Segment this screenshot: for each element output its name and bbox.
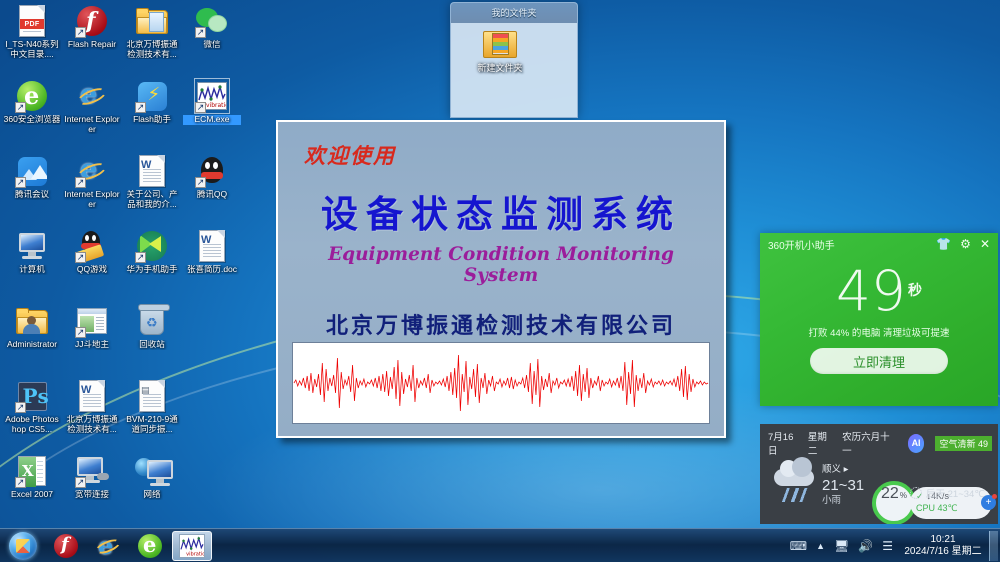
app-title-cn: 设备状态监测系统 xyxy=(290,184,712,238)
taskbar-item-internet-explorer[interactable]: e xyxy=(88,531,128,561)
network-icon[interactable]: 🖥 xyxy=(834,539,849,553)
start-button[interactable] xyxy=(2,531,44,561)
weather-monitor-widget[interactable]: 7月16日 星期二 农历六月十一 AI 空气清新 49 顺义 ▸ 21~31 小… xyxy=(760,424,998,524)
welcome-text: 欢迎使用 xyxy=(304,140,712,170)
excel-icon: X xyxy=(15,454,49,488)
ecm-app-icon: vibration xyxy=(195,79,229,113)
desktop-icon-about-company-doc[interactable]: W 关于公司、产品和我的介... xyxy=(122,152,182,227)
weather-city-label: 顺义 xyxy=(822,464,841,475)
weather-date: 7月16日 xyxy=(768,429,799,457)
taskbar[interactable]: f e e vibration xyxy=(0,528,1000,562)
word-document-icon: W xyxy=(75,379,109,413)
user-folder-icon xyxy=(15,304,49,338)
taskbar-item-ecm-exe[interactable]: vibration xyxy=(172,531,212,561)
internet-explorer-icon: e xyxy=(75,79,109,113)
weather-info: 顺义 ▸ 21~31 小雨 xyxy=(822,459,864,508)
desktop-icon-photoshop[interactable]: Ps Adobe Photoshop CS5... xyxy=(2,377,62,452)
text-document-icon: ▤ xyxy=(135,379,169,413)
rain-cloud-icon xyxy=(768,459,822,507)
assistant-title: 360开机小助手 xyxy=(768,237,936,252)
desktop-icon-grid[interactable]: PDF I_TS-N40系列中文目录.... f Flash Repair 北京… xyxy=(2,2,242,527)
weather-temp-range: 21~31 xyxy=(822,477,864,494)
desktop-icon-jj-landlord[interactable]: JJ斗地主 xyxy=(62,302,122,377)
desktop-icon-empty-slot-2 xyxy=(182,377,242,452)
app-title-en: Equipment Condition Monitoring System xyxy=(290,244,712,286)
flash-assistant-icon: ⚡ xyxy=(135,79,169,113)
360-boot-assistant-widget[interactable]: 360开机小助手 👕 ⚙ ✕ 49秒 打败 44% 的电脑 清理垃圾可提速 立即… xyxy=(760,233,998,406)
desktop-icon-label: 回收站 xyxy=(123,340,181,350)
desktop-icon-label: 北京万博振通检测技术有... xyxy=(63,415,121,434)
assistant-header: 360开机小助手 👕 ⚙ ✕ xyxy=(760,233,998,255)
cpu-temp-row: CPU 43℃ xyxy=(916,502,986,514)
taskbar-clock[interactable]: 10:21 2024/7/16 星期二 xyxy=(901,534,985,558)
gear-icon[interactable]: ⚙ xyxy=(960,238,971,250)
boot-seconds-value: 49 xyxy=(836,259,906,323)
internet-explorer-icon: e xyxy=(95,534,121,558)
empty-icon-slot xyxy=(195,379,229,413)
weather-date-row: 7月16日 星期二 农历六月十一 AI 空气清新 49 xyxy=(760,424,998,457)
splash-window-body: 欢迎使用 设备状态监测系统 Equipment Condition Monito… xyxy=(278,122,724,436)
close-icon[interactable]: ✕ xyxy=(980,238,990,250)
empty-icon-slot xyxy=(195,304,229,338)
desktop-icon-label: 360安全浏览器 xyxy=(3,115,61,125)
desktop-icon-huawei-hisuite[interactable]: 华为手机助手 xyxy=(122,227,182,302)
folder-window-item-new-folder[interactable]: 新建文件夹 xyxy=(463,29,537,74)
desktop-icon-label: 网络 xyxy=(123,490,181,500)
waveform-trace xyxy=(294,355,708,411)
clock-date: 2024/7/16 星期二 xyxy=(901,546,985,558)
folder-window-title: 我的文件夹 xyxy=(451,3,577,23)
weather-lunar: 农历六月十一 xyxy=(842,429,893,457)
desktop-icon-wechat[interactable]: 微信 xyxy=(182,2,242,77)
desktop-icon-pdf-catalog[interactable]: PDF I_TS-N40系列中文目录.... xyxy=(2,2,62,77)
svg-text:vibration: vibration xyxy=(206,102,226,109)
desktop-icon-computer[interactable]: 计算机 xyxy=(2,227,62,302)
huawei-hisuite-icon xyxy=(135,229,169,263)
network-icon xyxy=(135,454,169,488)
cpu-temperature: CPU 43℃ xyxy=(916,502,958,514)
360-browser-icon: e xyxy=(15,79,49,113)
keyboard-icon[interactable]: ⌨ xyxy=(790,539,807,553)
desktop-icon-tencent-qq[interactable]: 腾讯QQ xyxy=(182,152,242,227)
desktop-icon-tencent-meeting[interactable]: 腾讯会议 xyxy=(2,152,62,227)
folder-window-body[interactable]: 新建文件夹 xyxy=(451,23,577,118)
desktop-icon-empty-slot xyxy=(182,302,242,377)
wechat-icon xyxy=(195,4,229,38)
weather-forecast: 后天 21~34℃ xyxy=(910,486,985,500)
cpu-usage-value: 22 xyxy=(881,485,899,503)
photoshop-icon: Ps xyxy=(15,379,49,413)
desktop-icon-company-folder[interactable]: 北京万博振通检测技术有... xyxy=(122,2,182,77)
desktop-icon-label: 计算机 xyxy=(3,265,61,275)
desktop-icon-label: 腾讯会议 xyxy=(3,190,61,200)
computer-icon xyxy=(15,229,49,263)
desktop-icon-label: 宽带连接 xyxy=(63,490,121,500)
desktop-icon-label: BVM-210-9通道同步振... xyxy=(123,415,181,434)
tencent-meeting-icon xyxy=(15,154,49,188)
word-document-icon: W xyxy=(135,154,169,188)
desktop-icon-qq-games[interactable]: QQ游戏 xyxy=(62,227,122,302)
assistant-description: 打败 44% 的电脑 清理垃圾可提速 xyxy=(760,325,998,339)
folder-icon xyxy=(135,4,169,38)
jj-landlord-icon xyxy=(75,304,109,338)
volume-icon[interactable]: 🔊 xyxy=(858,539,873,553)
weather-weekday: 星期二 xyxy=(808,429,833,457)
air-quality-badge: 空气清新 49 xyxy=(935,436,992,451)
folder-window-item-label: 新建文件夹 xyxy=(477,61,522,74)
desktop-icon-label: Adobe Photoshop CS5... xyxy=(3,415,61,434)
360-browser-icon: e xyxy=(138,534,162,558)
flash-repair-icon: f xyxy=(75,4,109,38)
sun-icon xyxy=(910,487,922,499)
desktop-icon-flash-assistant[interactable]: ⚡ Flash助手 xyxy=(122,77,182,152)
desktop-icon-recycle-bin[interactable]: 回收站 xyxy=(122,302,182,377)
desktop-icon-label: 微信 xyxy=(183,40,241,50)
qq-icon xyxy=(195,154,229,188)
boot-seconds: 49秒 xyxy=(760,263,998,319)
clock-time: 10:21 xyxy=(901,534,985,546)
cpu-usage-unit: % xyxy=(900,491,907,500)
word-document-icon: W xyxy=(195,229,229,263)
pdf-document-icon: PDF xyxy=(15,4,49,38)
taskbar-item-flash-repair[interactable]: f xyxy=(46,531,86,561)
show-hidden-icons-arrow[interactable]: ▲ xyxy=(816,541,825,551)
forecast-text: 后天 21~34℃ xyxy=(926,486,985,500)
folder-icon xyxy=(483,29,517,59)
desktop-icon-label: 关于公司、产品和我的介... xyxy=(123,190,181,209)
desktop-icon-label: 华为手机助手 xyxy=(123,265,181,275)
desktop-icon-label: Flash助手 xyxy=(123,115,181,125)
desktop-icon-bvm-doc[interactable]: ▤ BVM-210-9通道同步振... xyxy=(122,377,182,452)
desktop-icon-administrator[interactable]: Administrator xyxy=(2,302,62,377)
assistant-header-icons[interactable]: 👕 ⚙ ✕ xyxy=(936,238,990,250)
desktop-icon-label: Internet Explorer xyxy=(63,115,121,134)
desktop-icon-internet-explorer[interactable]: e Internet Explorer xyxy=(62,77,122,152)
desktop-icon-flash-repair[interactable]: f Flash Repair xyxy=(62,2,122,77)
folder-window[interactable]: 我的文件夹 新建文件夹 xyxy=(450,2,578,118)
chevron-right-icon[interactable]: ▸ xyxy=(844,464,849,475)
desktop-icon-label: Excel 2007 xyxy=(3,490,61,500)
desktop-icon-label: Internet Explorer xyxy=(63,190,121,209)
vibration-waveform-panel xyxy=(292,342,710,424)
svg-text:vibration: vibration xyxy=(186,551,204,557)
desktop-icon-label: 北京万博振通检测技术有... xyxy=(123,40,181,59)
qq-games-icon xyxy=(75,229,109,263)
broadband-connection-icon xyxy=(75,454,109,488)
flash-icon: f xyxy=(54,534,78,558)
desktop[interactable]: PDF I_TS-N40系列中文目录.... f Flash Repair 北京… xyxy=(0,0,1000,562)
desktop-icon-broadband-connection[interactable]: 宽带连接 xyxy=(62,452,122,527)
desktop-icon-internet-explorer-2[interactable]: e Internet Explorer xyxy=(62,152,122,227)
desktop-icon-network[interactable]: 网络 xyxy=(122,452,182,527)
recycle-bin-icon xyxy=(135,304,169,338)
vibration-waveform xyxy=(293,343,709,423)
desktop-icon-label: 张喜简历.doc xyxy=(183,265,241,275)
tray-icon-group[interactable]: ⌨ ▲ 🖥 🔊 ☰ xyxy=(782,539,901,553)
boot-seconds-unit: 秒 xyxy=(908,283,922,299)
desktop-icon-company-word-doc[interactable]: W 北京万博振通检测技术有... xyxy=(62,377,122,452)
desktop-icon-label: Administrator xyxy=(3,340,61,350)
desktop-icon-excel-2007[interactable]: X Excel 2007 xyxy=(2,452,62,527)
windows-logo-icon xyxy=(9,532,37,560)
ai-badge[interactable]: AI xyxy=(908,434,925,453)
internet-explorer-icon: e xyxy=(75,154,109,188)
system-tray[interactable]: ⌨ ▲ 🖥 🔊 ☰ 10:21 2024/7/16 星期二 xyxy=(782,529,1000,562)
desktop-icon-360-browser[interactable]: e 360安全浏览器 xyxy=(2,77,62,152)
show-desktop-button[interactable] xyxy=(989,531,998,561)
taskbar-item-360-browser[interactable]: e xyxy=(130,531,170,561)
desktop-icon-resume-doc[interactable]: W 张喜简历.doc xyxy=(182,227,242,302)
company-name-cn: 北京万博振通检测技术有限公司 xyxy=(290,308,712,340)
desktop-icon-label: 腾讯QQ xyxy=(183,190,241,200)
desktop-icon-label: ECM.exe xyxy=(183,115,241,125)
shirt-icon[interactable]: 👕 xyxy=(936,238,951,250)
weather-condition: 小雨 xyxy=(822,494,864,508)
splash-window[interactable]: 欢迎使用 设备状态监测系统 Equipment Condition Monito… xyxy=(276,120,726,438)
weather-city[interactable]: 顺义 ▸ xyxy=(822,463,864,477)
desktop-icon-label: JJ斗地主 xyxy=(63,340,121,350)
desktop-icon-label: I_TS-N40系列中文目录.... xyxy=(3,40,61,59)
desktop-icon-label: Flash Repair xyxy=(63,40,121,50)
clean-now-button[interactable]: 立即清理 xyxy=(810,348,948,374)
ecm-app-icon: vibration xyxy=(179,534,205,558)
desktop-icon-ecm-exe[interactable]: vibration ECM.exe xyxy=(182,77,242,152)
desktop-icon-label: QQ游戏 xyxy=(63,265,121,275)
signal-icon[interactable]: ☰ xyxy=(882,539,893,553)
weather-body: 顺义 ▸ 21~31 小雨 22% ✓ ↓4K/s CPU 43℃ + 后天 2… xyxy=(760,457,998,508)
